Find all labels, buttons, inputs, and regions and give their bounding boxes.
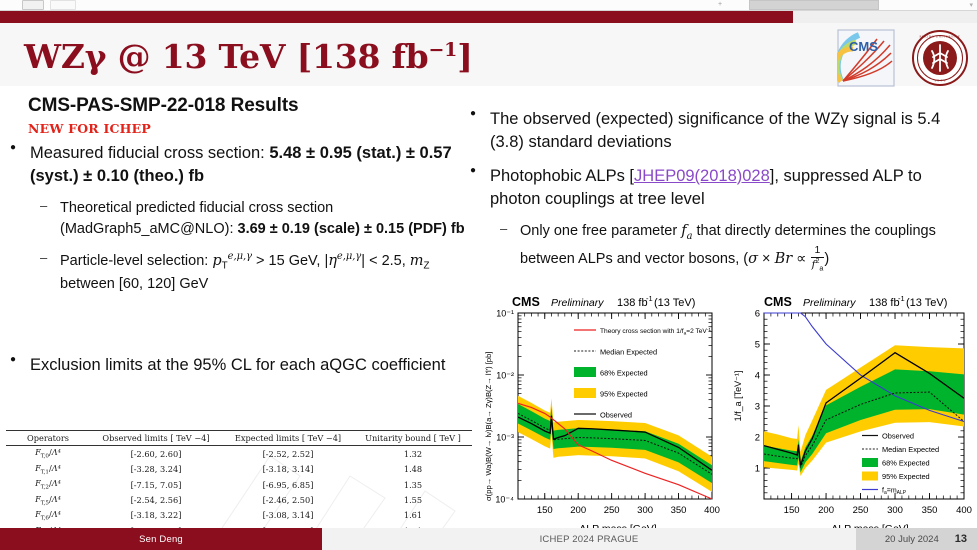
- cell-expected: [-3.08, 3.14]: [222, 508, 354, 523]
- title-accent-bar-tail: [793, 11, 977, 23]
- svg-text:PEKING UNIVERSITY: PEKING UNIVERSITY: [920, 34, 961, 38]
- cell-expected: [-2.52, 2.52]: [222, 446, 354, 462]
- bullet-significance: The observed (expected) significance of …: [468, 108, 960, 155]
- table-row: FT,1/Λ⁴[-3.28, 3.24][-3.18, 3.14]1.48: [6, 461, 472, 476]
- sub-sel-mid: > 15 GeV, |: [252, 253, 328, 269]
- title-zone: WZγ @ 13 TeV [138 fb−1]: [0, 23, 977, 86]
- page-title-main: WZγ @ 13 TeV [138 fb: [24, 37, 428, 76]
- chrome-button-primary[interactable]: [22, 0, 44, 10]
- chrome-button-secondary[interactable]: [50, 0, 76, 10]
- chart2-legend-swatch: [862, 458, 878, 467]
- sub-sel-prefix: Particle-level selection:: [60, 253, 212, 269]
- footer-page-number: 13: [955, 533, 967, 545]
- chart1-lumi-label: 138 fb: [617, 297, 648, 309]
- freeparam-br: Br: [775, 251, 793, 267]
- chart1-y-tick: 10⁻⁴: [495, 495, 514, 505]
- app-chrome-bar: + ▾: [0, 0, 977, 11]
- th-expected: Expected limits [ TeV −4]: [222, 431, 354, 446]
- sub-sel-mz: m: [410, 253, 424, 269]
- page-title: WZγ @ 13 TeV [138 fb−1]: [24, 37, 473, 76]
- sub-sel-eta-sup: e,μ,γ: [337, 251, 361, 262]
- chart1-x-tick: 300: [637, 505, 653, 516]
- sub-free-parameter: Only one free parameter fa that directly…: [498, 218, 968, 273]
- table-header-row: Operators Observed limits [ TeV −4] Expe…: [6, 431, 472, 446]
- logo-group: CMS: [837, 29, 969, 87]
- cell-operator: FT,5/Λ⁴: [6, 492, 90, 507]
- chart1-lumi-exponent: -1: [646, 294, 653, 303]
- title-accent-bar: [0, 11, 793, 23]
- chart2-lumi-label: 138 fb: [869, 297, 900, 309]
- peking-university-logo: PEKING UNIVERSITY 1 8 9 8: [911, 29, 969, 87]
- alps-prefix: Photophobic ALPs [: [490, 167, 634, 185]
- cell-unitarity: 1.61: [354, 508, 472, 523]
- chart2-x-tick: 400: [956, 505, 972, 516]
- cell-unitarity: 1.32: [354, 446, 472, 462]
- chart-alp-inverse-fa-limit: CMS Preliminary 138 fb -1 (13 TeV) 12345…: [730, 291, 974, 537]
- chart1-legend-swatch: [574, 367, 596, 377]
- chart2-x-tick: 200: [818, 505, 834, 516]
- sub-sel-mz-sub: Z: [424, 261, 430, 272]
- chart1-x-tick: 350: [671, 505, 687, 516]
- chart2-cms-label: CMS: [764, 295, 792, 309]
- chart2-legend-swatch: [862, 472, 878, 481]
- chart2-y-tick: 3: [755, 402, 760, 413]
- chart2-bands: [764, 345, 964, 476]
- cell-expected: [-3.18, 3.14]: [222, 461, 354, 476]
- table-row: FT,6/Λ⁴[-3.18, 3.22][-3.08, 3.14]1.61: [6, 508, 472, 523]
- jhep-reference-link[interactable]: JHEP09(2018)028: [634, 167, 770, 185]
- cell-observed: [-7.15, 7.05]: [90, 477, 222, 492]
- cell-operator: FT,2/Λ⁴: [6, 477, 90, 492]
- cell-observed: [-3.18, 3.22]: [90, 508, 222, 523]
- chart1-legend: Theory cross section with 1/fa=2 TeV-1Me…: [574, 327, 711, 420]
- sub-sel-pt: p: [212, 253, 221, 269]
- freeparam-fraction: 1f2a: [811, 246, 825, 273]
- chart1-svg: CMS Preliminary 138 fb -1 (13 TeV) 10⁻¹1…: [478, 291, 722, 537]
- chart1-legend-swatch: [574, 388, 596, 398]
- chart1-legend-label: 95% Expected: [600, 390, 648, 399]
- chart2-x-tick: 250: [853, 505, 869, 516]
- chart2-energy-label: (13 TeV): [906, 297, 947, 309]
- bullet-photophobic-alps: Photophobic ALPs [JHEP09(2018)028], supp…: [468, 165, 960, 212]
- cell-operator: FT,0/Λ⁴: [6, 446, 90, 462]
- cell-operator: FT,6/Λ⁴: [6, 508, 90, 523]
- sub-theory-value: 3.69 ± 0.19 (scale) ± 0.15 (PDF) fb: [238, 221, 465, 237]
- chart1-legend-label: Theory cross section with 1/fa=2 TeV-1: [600, 327, 711, 337]
- chart2-legend-label: 68% Expected: [882, 459, 930, 468]
- freeparam-prop: ∝: [792, 251, 810, 267]
- bullet-exclusion-limits: Exclusion limits at the 95% CL for each …: [8, 354, 458, 377]
- new-for-ichep-badge: NEW FOR ICHEP: [28, 121, 151, 136]
- sub-sel-pt-sub: T: [222, 261, 228, 272]
- chart2-x-tick: 300: [887, 505, 903, 516]
- table-row: FT,0/Λ⁴[-2.60, 2.60][-2.52, 2.52]1.32: [6, 446, 472, 462]
- th-unitarity: Unitarity bound [ TeV ]: [354, 431, 472, 446]
- chart1-x-tick: 400: [704, 505, 720, 516]
- chart1-y-tick: 10⁻¹: [496, 309, 514, 319]
- sub-sel-eta: η: [328, 253, 337, 269]
- table-head: Operators Observed limits [ TeV −4] Expe…: [6, 431, 472, 446]
- svg-text:1 8 9 8: 1 8 9 8: [934, 79, 945, 83]
- left-column: CMS-PAS-SMP-22-018 Results NEW FOR ICHEP…: [0, 86, 478, 537]
- new-tab-icon[interactable]: +: [718, 1, 722, 8]
- sub-sel-mid2: | < 2.5,: [361, 253, 410, 269]
- sub-sel-pt-sup: e,μ,γ: [228, 251, 252, 262]
- slide-canvas: WZγ @ 13 TeV [138 fb−1]: [0, 11, 977, 550]
- chrome-tab[interactable]: [749, 0, 879, 10]
- chart2-y-tick: 4: [755, 371, 760, 382]
- chart2-y-tick: 5: [755, 340, 760, 351]
- chart2-lumi-exponent: -1: [898, 294, 905, 303]
- cms-logo: CMS: [837, 29, 895, 87]
- pku-logo-svg: PEKING UNIVERSITY 1 8 9 8: [911, 29, 969, 87]
- cell-unitarity: 1.48: [354, 461, 472, 476]
- chart1-legend-label: 68% Expected: [600, 369, 648, 378]
- svg-text:CMS: CMS: [849, 39, 878, 54]
- cell-operator: FT,1/Λ⁴: [6, 461, 90, 476]
- chart2-legend: ObservedMedian Expected68% Expected95% E…: [862, 432, 939, 497]
- freeparam-prefix: Only one free parameter: [520, 223, 681, 239]
- footer-author: Sen Deng: [0, 528, 322, 550]
- footer-right: 20 July 2024 13: [856, 528, 977, 550]
- th-operators: Operators: [6, 431, 90, 446]
- aqgc-limits-table: Operators Observed limits [ TeV −4] Expe…: [6, 430, 472, 541]
- table-body: FT,0/Λ⁴[-2.60, 2.60][-2.52, 2.52]1.32FT,…: [6, 446, 472, 541]
- section-heading: CMS-PAS-SMP-22-018 Results: [28, 95, 299, 117]
- sub-particle-level-selection: Particle-level selection: pTe,μ,γ > 15 G…: [38, 250, 470, 295]
- bullet-measured-cross-section: Measured fiducial cross section: 5.48 ± …: [8, 142, 468, 189]
- chart1-energy-label: (13 TeV): [654, 297, 695, 309]
- table-row: FT,5/Λ⁴[-2.54, 2.56][-2.46, 2.50]1.55: [6, 492, 472, 507]
- chart1-y-tick: 10⁻²: [496, 371, 514, 381]
- sub-sel-tail: between [60, 120] GeV: [60, 276, 208, 292]
- left-sub-list: Theoretical predicted fiducial cross sec…: [38, 198, 470, 298]
- chart1-preliminary-label: Preliminary: [551, 297, 604, 309]
- chart1-legend-label: Observed: [600, 411, 632, 420]
- cell-unitarity: 1.55: [354, 492, 472, 507]
- freeparam-times: ×: [758, 251, 775, 267]
- footer-conference: ICHEP 2024 PRAGUE: [322, 528, 856, 550]
- chart2-svg: CMS Preliminary 138 fb -1 (13 TeV) 12345…: [730, 291, 974, 537]
- chart1-x-tick: 150: [537, 505, 553, 516]
- fraction-den-sub: a: [819, 265, 823, 273]
- cell-expected: [-6.95, 6.85]: [222, 477, 354, 492]
- chart1-y-axis-label: σ(pp→ Wa)B(W→ lν)B(a→ Zγ)B(Z→ l'l') [pb]: [484, 352, 493, 501]
- chart1-x-tick: 200: [570, 505, 586, 516]
- chart2-x-tick: 350: [922, 505, 938, 516]
- cell-unitarity: 1.35: [354, 477, 472, 492]
- page-title-exponent: −1: [428, 39, 457, 61]
- right-sub-list: Only one free parameter fa that directly…: [498, 218, 968, 276]
- right-column: The observed (expected) significance of …: [460, 86, 977, 537]
- page-title-tail: ]: [457, 37, 472, 76]
- slide-viewer: + ▾ WZγ @ 13 TeV [138 fb−1]: [0, 0, 977, 550]
- chart2-legend-label: Median Expected: [882, 445, 939, 454]
- slide-footer: Sen Deng ICHEP 2024 PRAGUE 20 July 2024 …: [0, 528, 977, 550]
- chart2-x-tick: 150: [784, 505, 800, 516]
- fraction-denominator: f2a: [811, 258, 825, 273]
- chart2-legend-label: Observed: [882, 432, 914, 441]
- chart2-y-axis-label: 1/f_a [TeV⁻¹]: [733, 371, 743, 422]
- footer-date: 20 July 2024: [885, 534, 939, 545]
- sub-theoretical-cross-section: Theoretical predicted fiducial cross sec…: [38, 198, 470, 240]
- freeparam-sigma: σ: [748, 251, 758, 267]
- chart2-y-tick: 6: [755, 309, 760, 320]
- cms-logo-svg: CMS: [837, 29, 895, 87]
- chart2-y-tick: 1: [755, 464, 760, 475]
- results-table-wrap: Operators Observed limits [ TeV −4] Expe…: [6, 430, 472, 541]
- chart2-preliminary-label: Preliminary: [803, 297, 856, 309]
- right-bullet-list: The observed (expected) significance of …: [468, 108, 960, 216]
- chevron-down-icon[interactable]: ▾: [969, 1, 973, 9]
- freeparam-close: ): [824, 251, 829, 267]
- th-observed: Observed limits [ TeV −4]: [90, 431, 222, 446]
- left-bullet-list-2: Exclusion limits at the 95% CL for each …: [8, 354, 458, 381]
- cell-expected: [-2.46, 2.50]: [222, 492, 354, 507]
- chart1-legend-label: Median Expected: [600, 348, 657, 357]
- cell-observed: [-3.28, 3.24]: [90, 461, 222, 476]
- chart1-cms-label: CMS: [512, 295, 540, 309]
- chart-alp-cross-section-limit: CMS Preliminary 138 fb -1 (13 TeV) 10⁻¹1…: [478, 291, 722, 537]
- cell-observed: [-2.60, 2.60]: [90, 446, 222, 462]
- chart2-legend-label: fa=mALP: [882, 488, 907, 497]
- bullet-measured-prefix: Measured fiducial cross section:: [30, 144, 269, 162]
- chart1-x-tick: 250: [604, 505, 620, 516]
- chart1-y-tick: 10⁻³: [496, 433, 514, 443]
- table-row: FT,2/Λ⁴[-7.15, 7.05][-6.95, 6.85]1.35: [6, 477, 472, 492]
- chart2-y-tick: 2: [755, 433, 760, 444]
- left-bullet-list: Measured fiducial cross section: 5.48 ± …: [8, 142, 468, 193]
- cell-observed: [-2.54, 2.56]: [90, 492, 222, 507]
- chart2-legend-label: 95% Expected: [882, 472, 930, 481]
